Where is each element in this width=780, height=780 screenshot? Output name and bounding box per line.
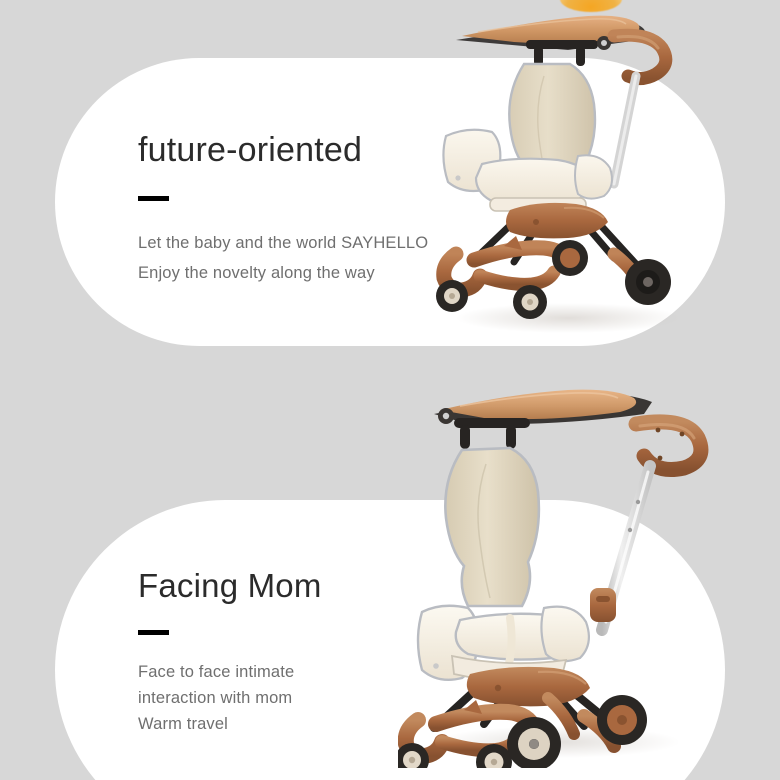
panel-2-body-line-1: Face to face intimate	[138, 659, 322, 685]
panel-1-heading: future-oriented	[138, 133, 428, 169]
stroller-1-handle	[614, 35, 666, 78]
stroller-2-wheel-center-large	[507, 717, 561, 768]
stroller-1-pole-highlight	[614, 76, 636, 184]
stroller-1-wheel-front-left	[436, 280, 468, 312]
stroller-1-wheel-mid	[552, 240, 588, 276]
stroller-2-wheel-rear	[597, 695, 647, 745]
panel-2-body: Face to face intimate interaction with m…	[138, 659, 322, 738]
stroller-2-harness-strap	[508, 618, 512, 668]
panel-1-body: Let the baby and the world SAYHELLO Enjo…	[138, 228, 428, 288]
panel-2-body-line-2: interaction with mom	[138, 685, 322, 711]
feature-text-block-2: Facing Mom Face to face intimate interac…	[138, 569, 322, 738]
stroller-1-ground-shadow	[456, 303, 680, 333]
stroller-2-wheel-front-left	[398, 743, 429, 768]
stroller-1-side-pad-right	[575, 155, 612, 198]
stroller-1-canopy-bracket	[526, 36, 611, 66]
panel-2-body-line-3: Warm travel	[138, 711, 322, 737]
product-feature-page: future-oriented Let the baby and the wor…	[0, 0, 780, 780]
panel-2-heading: Facing Mom	[138, 569, 322, 604]
panel-1-body-line-1: Let the baby and the world SAYHELLO	[138, 228, 428, 258]
stroller-1-wheel-front-right	[513, 285, 547, 319]
panel-1-divider-rule	[138, 196, 169, 201]
stroller-2-center-hub	[467, 667, 590, 706]
stroller-image-forward-facing	[418, 0, 718, 348]
feature-text-block-1: future-oriented Let the baby and the wor…	[138, 133, 428, 288]
stroller-image-parent-facing	[398, 368, 728, 768]
stroller-2-side-pad-right	[541, 607, 588, 662]
stroller-2-pole-clamp	[590, 588, 616, 622]
stroller-1-wheel-rear	[625, 259, 671, 305]
stroller-2-seat-back	[445, 448, 539, 606]
panel-1-body-line-2: Enjoy the novelty along the way	[138, 258, 428, 288]
panel-2-divider-rule	[138, 630, 169, 635]
stroller-1-front-axle-arm	[444, 236, 570, 290]
